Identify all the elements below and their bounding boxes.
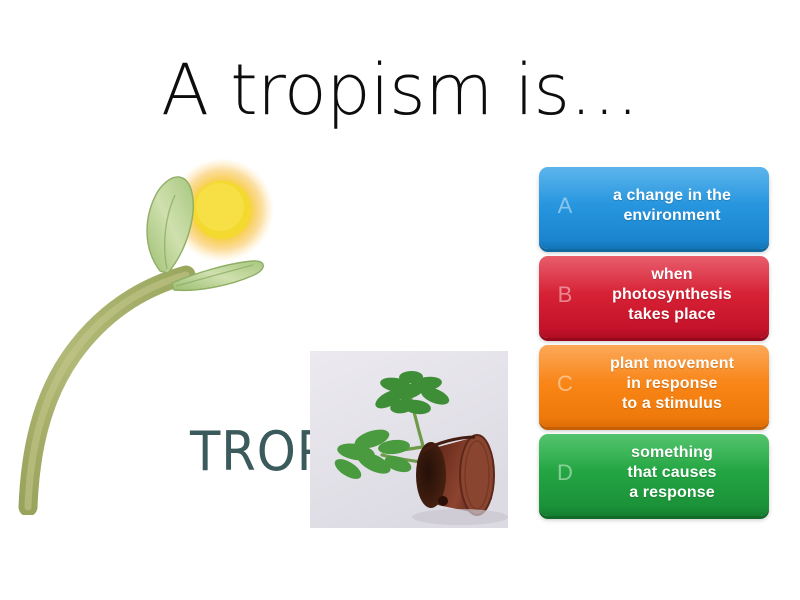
answer-option-c[interactable]: C plant movement in response to a stimul… xyxy=(539,345,769,427)
question-media: TROPISMS xyxy=(10,155,520,545)
answer-letter-a: A xyxy=(545,195,585,217)
answer-option-b[interactable]: B when photosynthesis takes place xyxy=(539,256,769,338)
answer-option-a[interactable]: A a change in the environment xyxy=(539,167,769,249)
answer-option-d[interactable]: D something that causes a response xyxy=(539,434,769,516)
flower-pot xyxy=(416,435,494,515)
page-title: A tropism is… xyxy=(0,48,800,132)
answer-letter-c: C xyxy=(545,373,585,395)
bending-plant-stem-icon xyxy=(28,275,186,507)
leaf-icon xyxy=(147,177,193,273)
potted-plant-gravitropism-photo xyxy=(310,351,508,528)
answer-text-c: plant movement in response to a stimulus xyxy=(585,354,759,414)
answer-text-b: when photosynthesis takes place xyxy=(585,265,759,325)
answer-letter-d: D xyxy=(545,462,585,484)
answer-letter-b: B xyxy=(545,284,585,306)
answer-options: A a change in the environment B when pho… xyxy=(539,167,769,523)
quiz-slide: A tropism is… xyxy=(0,0,800,600)
answer-text-d: something that causes a response xyxy=(585,443,759,503)
answer-text-a: a change in the environment xyxy=(585,186,759,226)
